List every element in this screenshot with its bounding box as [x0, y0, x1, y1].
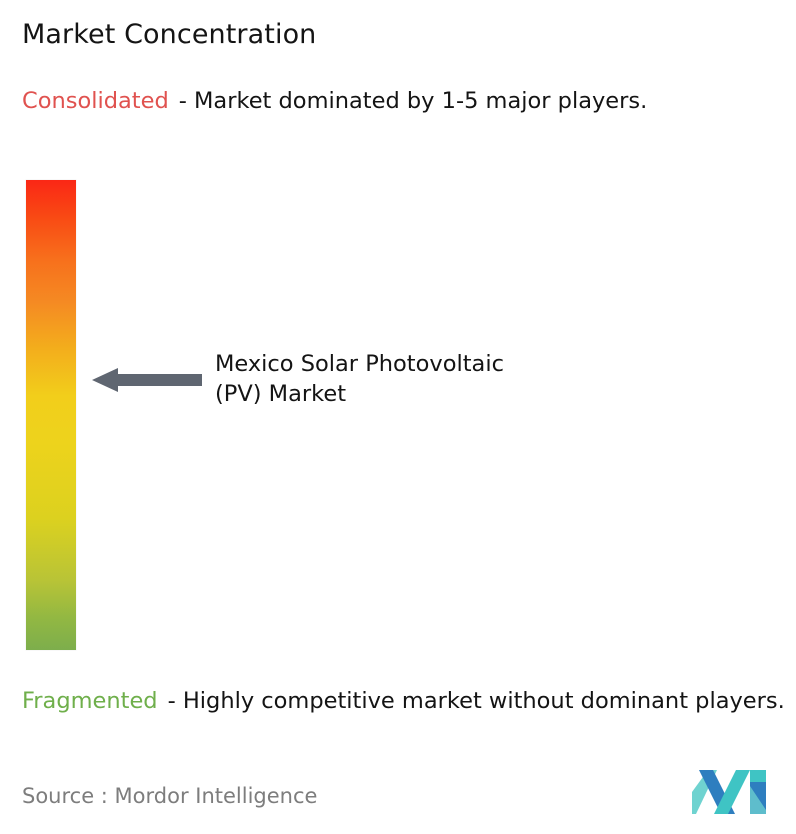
legend-consolidated-description: - Market dominated by 1-5 major players. [179, 88, 648, 114]
source-attribution: Source : Mordor Intelligence [22, 782, 317, 810]
legend-fragmented-keyword: Fragmented [22, 688, 158, 714]
page-title: Market Concentration [22, 18, 316, 52]
legend-consolidated: Consolidated- Market dominated by 1-5 ma… [22, 86, 772, 117]
legend-fragmented-description: - Highly competitive market without domi… [168, 688, 785, 714]
legend-fragmented: Fragmented- Highly competitive market wi… [22, 686, 792, 717]
marker-label-line2: (PV) Market [215, 379, 635, 409]
market-concentration-scale-bar [26, 180, 76, 650]
mordor-intelligence-logo-icon [692, 770, 766, 814]
marker-label-line1: Mexico Solar Photovoltaic [215, 349, 635, 379]
legend-consolidated-keyword: Consolidated [22, 88, 169, 114]
marker-label: Mexico Solar Photovoltaic (PV) Market [215, 349, 635, 409]
marker-left-arrow-icon [92, 366, 202, 394]
